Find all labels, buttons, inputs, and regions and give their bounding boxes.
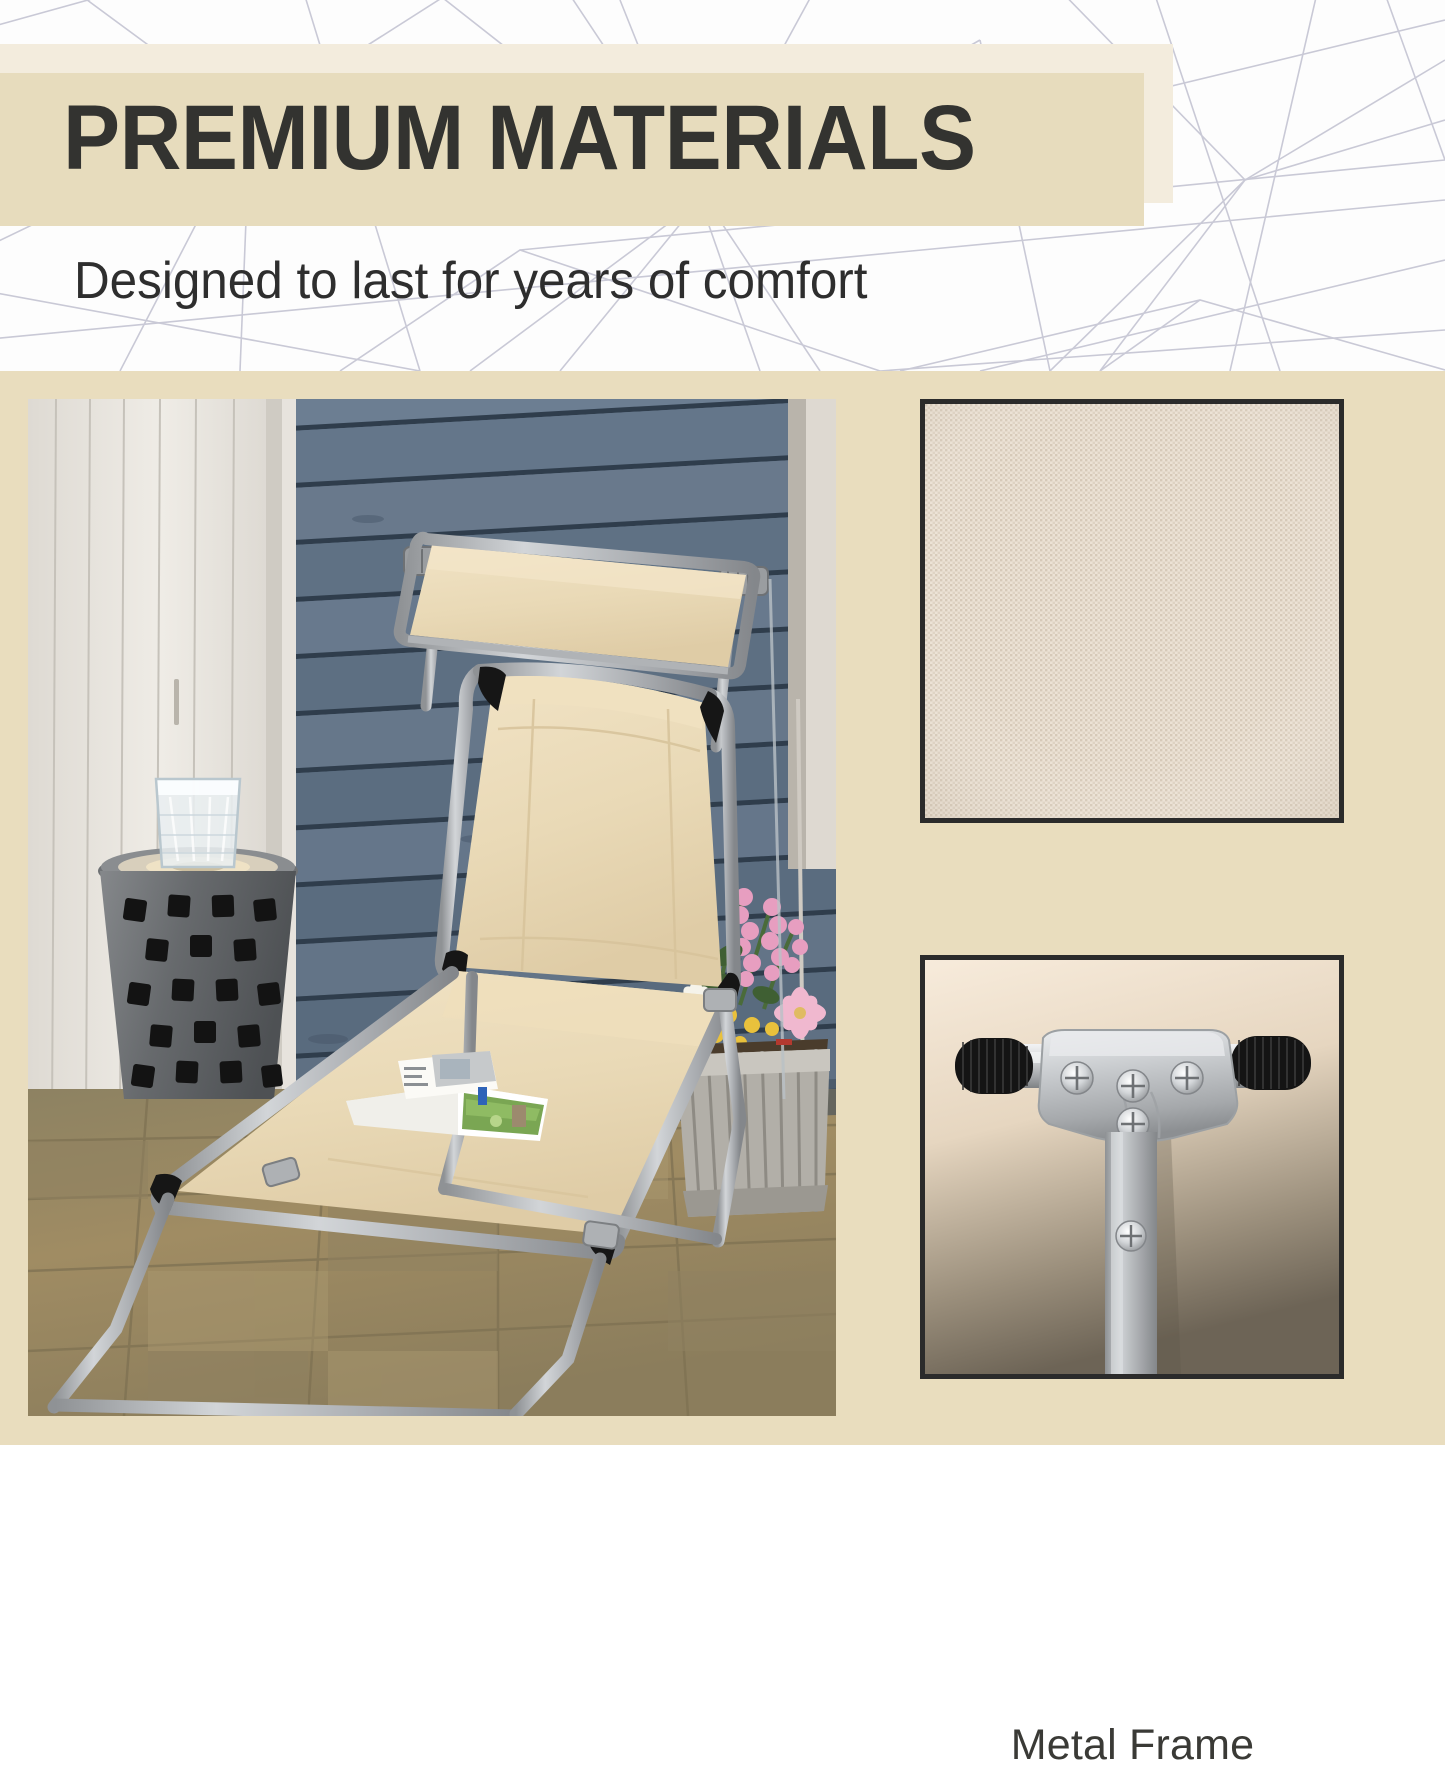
hero-product-photo	[28, 399, 836, 1416]
grip-right	[1231, 1036, 1311, 1090]
oxford-weave-texture	[925, 404, 1339, 818]
page-subtitle: Designed to last for years of comfort	[74, 254, 867, 309]
feature-photo-metal-frame	[920, 955, 1344, 1379]
grip-left	[955, 1038, 1033, 1094]
feature-caption-metal-frame: Metal Frame	[880, 1721, 1385, 1770]
header-section: PREMIUM MATERIALS Designed to last for y…	[0, 0, 1445, 371]
content-section: Durable Oxford Cover	[0, 371, 1445, 1445]
crystal-glass	[156, 779, 240, 867]
page-title: PREMIUM MATERIALS	[63, 92, 976, 184]
feature-swatch-oxford-cover	[920, 399, 1344, 823]
metal-frame-illustration	[925, 960, 1339, 1374]
hero-illustration	[28, 399, 836, 1416]
